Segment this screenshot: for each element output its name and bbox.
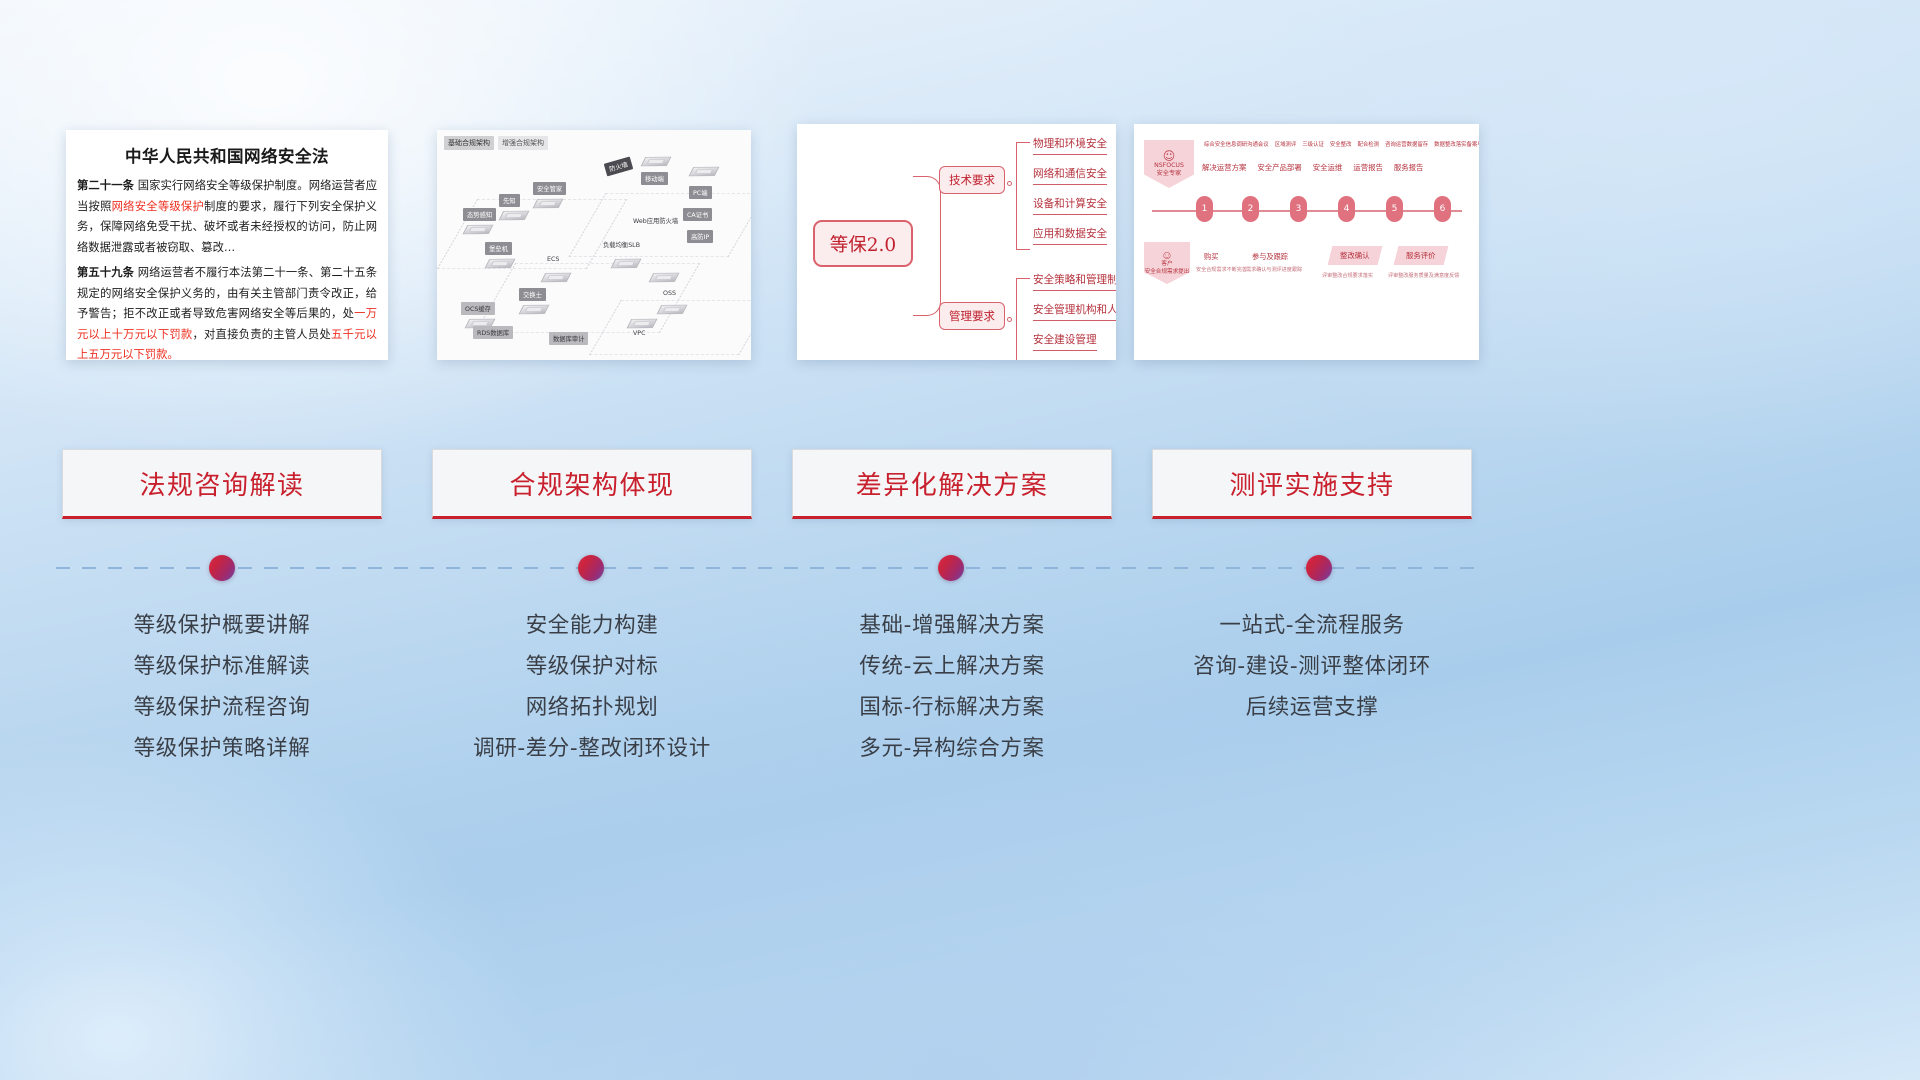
architecture-cube xyxy=(641,157,672,167)
nsfocus-stage: 安全产品部署 xyxy=(1257,162,1301,173)
architecture-cube xyxy=(657,305,688,315)
architecture-cube xyxy=(533,199,564,209)
architecture-node-ca-cert: CA证书 xyxy=(683,208,712,221)
nsfocus-step: 5 xyxy=(1386,196,1403,222)
nsfocus-brand: NSFOCUS xyxy=(1154,162,1184,170)
mindmap-branch-management: 管理要求 xyxy=(939,302,1005,330)
list-item: 等级保护策略详解 xyxy=(57,728,387,769)
nsfocus-step: 4 xyxy=(1338,196,1355,222)
architecture-node-mobile: 移动端 xyxy=(641,172,668,185)
nsfocus-top-label: 咨询运营数据留存 xyxy=(1385,140,1428,148)
card-cybersecurity-law: 中华人民共和国网络安全法 第二十一条 国家实行网络安全等级保护制度。网络运营者应… xyxy=(66,130,388,360)
nsfocus-bottom-tag: 购买 xyxy=(1204,252,1218,262)
list-item: 传统-云上解决方案 xyxy=(787,646,1117,687)
nsfocus-expert-badge: ☺ NSFOCUS 安全专家 xyxy=(1144,140,1194,188)
architecture-node-pc: PC端 xyxy=(689,186,712,199)
list-item: 咨询-建设-测评整体闭环 xyxy=(1147,646,1477,687)
nsfocus-top-label: 三级认证 xyxy=(1302,140,1324,148)
architecture-node-rds: RDS数据库 xyxy=(473,326,513,339)
mindmap-leaf: 安全建设管理 xyxy=(1033,332,1097,351)
nsfocus-deliverable-sub: 评审整改合规要求落实 xyxy=(1322,272,1373,279)
nsfocus-top-label: 数据整改落实备案与业务流程规范 xyxy=(1434,140,1479,148)
mindmap-node-dot xyxy=(1007,181,1012,186)
mindmap-connector xyxy=(913,244,941,316)
list-item: 调研-差分-整改闭环设计 xyxy=(427,728,757,769)
nsfocus-brand-sub: 安全专家 xyxy=(1157,170,1182,178)
architecture-node-slb: 负载均衡SLB xyxy=(603,240,640,249)
timeline-dot-3[interactable] xyxy=(938,555,964,581)
architecture-node-security-butler: 安全管家 xyxy=(533,182,566,195)
architecture-tabs: 基础合规架构 增强合规架构 xyxy=(444,136,548,150)
architecture-cube xyxy=(519,305,550,315)
list-item: 等级保护对标 xyxy=(427,646,757,687)
mindmap: 等保2.0 技术要求 管理要求 物理和环境安全 网络和通信安全 设备和计算安全 … xyxy=(797,124,1116,360)
mindmap-node-dot xyxy=(1007,317,1012,322)
nsfocus-step: 2 xyxy=(1242,196,1259,222)
person-icon: ☺ xyxy=(1161,250,1173,261)
nsfocus-step: 3 xyxy=(1290,196,1307,222)
nsfocus-deliverable-label: 整改确认 xyxy=(1340,250,1370,261)
mindmap-leaf: 安全策略和管理制度 xyxy=(1033,272,1116,291)
nsfocus-stage: 运营报告 xyxy=(1353,162,1383,173)
architecture-node-firewall: 防火墙 xyxy=(604,157,633,177)
nsfocus-bottom-tag: 参与及跟踪 xyxy=(1252,252,1288,262)
architecture-node-ecs: ECS xyxy=(547,256,559,263)
law-article-text-cont: ，对直接负责的主管人员处 xyxy=(192,328,331,341)
nsfocus-customer-sub: 安全合规需求提出 xyxy=(1145,269,1190,277)
section-title-2[interactable]: 合规架构体现 xyxy=(432,449,752,519)
nsfocus-stage: 安全运维 xyxy=(1313,162,1343,173)
nsfocus-step: 6 xyxy=(1434,196,1451,222)
architecture-node-xianzhi: 先知 xyxy=(499,194,520,207)
mindmap-spine xyxy=(1016,184,1030,250)
architecture-node-waf: Web应用防火墙 xyxy=(633,216,678,225)
nsfocus-stage-row: 解决运营方案 安全产品部署 安全运维 运营报告 服务报告 xyxy=(1202,162,1423,173)
list-item: 国标-行标解决方案 xyxy=(787,687,1117,728)
column-2-items: 安全能力构建 等级保护对标 网络拓扑规划 调研-差分-整改闭环设计 xyxy=(427,605,757,769)
mindmap-branch-technical: 技术要求 xyxy=(939,166,1005,194)
mindmap-spine xyxy=(1016,320,1030,360)
nsfocus-stage: 解决运营方案 xyxy=(1202,162,1246,173)
architecture-cube xyxy=(485,259,516,269)
architecture-node-vpc: VPC xyxy=(633,330,646,337)
nsfocus-diagram: ☺ NSFOCUS 安全专家 综合安全信息调研沟通会议 区域测评 三级认证 安全… xyxy=(1134,124,1479,360)
column-1-items: 等级保护概要讲解 等级保护标准解读 等级保护流程咨询 等级保护策略详解 xyxy=(57,605,387,769)
timeline-dot-1[interactable] xyxy=(209,555,235,581)
nsfocus-stage: 服务报告 xyxy=(1394,162,1424,173)
nsfocus-top-label: 综合安全信息调研沟通会议 xyxy=(1204,140,1269,148)
architecture-cube xyxy=(499,211,530,221)
law-article: 第二十一条 国家实行网络安全等级保护制度。网络运营者应当按照网络安全等级保护制度… xyxy=(77,176,377,258)
architecture-diagram: 基础合规架构 增强合规架构 防火墙 安全管家 先知 态势感知 堡垒机 ECS 交… xyxy=(437,130,751,360)
architecture-cube xyxy=(627,319,658,329)
section-title-1[interactable]: 法规咨询解读 xyxy=(62,449,382,519)
mindmap-leaf: 应用和数据安全 xyxy=(1033,226,1107,245)
law-article: 第五十九条 网络运营者不履行本法第二十一条、第二十五条规定的网络安全保护义务的，… xyxy=(77,263,377,360)
mindmap-root: 等保2.0 xyxy=(813,220,913,267)
list-item: 一站式-全流程服务 xyxy=(1147,605,1477,646)
list-item: 等级保护流程咨询 xyxy=(57,687,387,728)
section-title-4[interactable]: 测评实施支持 xyxy=(1152,449,1472,519)
timeline-dot-4[interactable] xyxy=(1306,555,1332,581)
list-item: 基础-增强解决方案 xyxy=(787,605,1117,646)
mindmap-connector xyxy=(913,176,941,244)
architecture-cube xyxy=(689,167,720,177)
column-3-items: 基础-增强解决方案 传统-云上解决方案 国标-行标解决方案 多元-异构综合方案 xyxy=(787,605,1117,769)
list-item: 网络拓扑规划 xyxy=(427,687,757,728)
architecture-node-situational-awareness: 态势感知 xyxy=(463,208,496,221)
nsfocus-bottom-tag-sub: 需求确认与测评进度跟踪 xyxy=(1246,266,1302,273)
list-item: 等级保护概要讲解 xyxy=(57,605,387,646)
card-dengbao-mindmap: 等保2.0 技术要求 管理要求 物理和环境安全 网络和通信安全 设备和计算安全 … xyxy=(797,124,1116,360)
nsfocus-top-labels: 综合安全信息调研沟通会议 区域测评 三级认证 安全整改 配合检测 咨询运营数据留… xyxy=(1204,140,1479,148)
card-nsfocus-timeline: ☺ NSFOCUS 安全专家 综合安全信息调研沟通会议 区域测评 三级认证 安全… xyxy=(1134,124,1479,360)
section-title-3[interactable]: 差异化解决方案 xyxy=(792,449,1112,519)
list-item: 安全能力构建 xyxy=(427,605,757,646)
timeline-dashed-line xyxy=(56,567,1482,569)
mindmap-leaf: 网络和通信安全 xyxy=(1033,166,1107,185)
list-item: 等级保护标准解读 xyxy=(57,646,387,687)
list-item: 多元-异构综合方案 xyxy=(787,728,1117,769)
nsfocus-deliverable-sub: 评审整改服务质量及满意度反馈 xyxy=(1388,272,1459,279)
nsfocus-deliverable: 整改确认 xyxy=(1328,246,1382,265)
architecture-tab-enhanced[interactable]: 增强合规架构 xyxy=(498,136,548,150)
architecture-cube xyxy=(541,273,572,283)
architecture-node-oss: OSS xyxy=(663,290,676,297)
nsfocus-top-label: 区域测评 xyxy=(1275,140,1297,148)
mindmap-leaf: 物理和环境安全 xyxy=(1033,136,1107,155)
architecture-cube xyxy=(463,225,494,235)
nsfocus-top-label: 配合检测 xyxy=(1357,140,1379,148)
architecture-node-bastion: 堡垒机 xyxy=(485,242,512,255)
architecture-node-anti-ddos: 高防IP xyxy=(687,230,713,243)
architecture-cube xyxy=(611,259,642,269)
architecture-tab-basic[interactable]: 基础合规架构 xyxy=(444,136,494,150)
cards-row: 中华人民共和国网络安全法 第二十一条 国家实行网络安全等级保护制度。网络运营者应… xyxy=(0,0,1920,440)
nsfocus-bottom-tag-sub: 安全合规需求不断完善 xyxy=(1196,266,1247,273)
list-item: 后续运营支撑 xyxy=(1147,687,1477,728)
architecture-node-switch: 交换士 xyxy=(519,288,546,301)
card-compliance-architecture: 基础合规架构 增强合规架构 防火墙 安全管家 先知 态势感知 堡垒机 ECS 交… xyxy=(437,130,751,360)
architecture-node-db-audit: 数据库审计 xyxy=(549,332,588,345)
nsfocus-deliverable-label: 服务评价 xyxy=(1406,250,1436,261)
law-card-body: 第二十一条 国家实行网络安全等级保护制度。网络运营者应当按照网络安全等级保护制度… xyxy=(66,176,388,360)
mindmap-leaf: 设备和计算安全 xyxy=(1033,196,1107,215)
nsfocus-customer-title: 客户 xyxy=(1161,261,1172,269)
architecture-cube xyxy=(649,273,680,283)
law-article-label: 第二十一条 xyxy=(77,179,134,192)
person-icon: ☺ xyxy=(1163,151,1176,162)
nsfocus-step: 1 xyxy=(1196,196,1213,222)
column-4-items: 一站式-全流程服务 咨询-建设-测评整体闭环 后续运营支撑 xyxy=(1147,605,1477,728)
architecture-node-ocs-cache: OCS缓存 xyxy=(461,302,495,315)
nsfocus-deliverable: 服务评价 xyxy=(1394,246,1448,265)
law-article-highlight: 网络安全等级保护 xyxy=(112,200,204,213)
nsfocus-top-label: 安全整改 xyxy=(1330,140,1352,148)
law-card-title: 中华人民共和国网络安全法 xyxy=(66,130,388,176)
nsfocus-customer-badge: ☺ 客户 安全合规需求提出 xyxy=(1144,242,1190,284)
timeline-dot-2[interactable] xyxy=(578,555,604,581)
law-article-label: 第五十九条 xyxy=(77,266,134,279)
mindmap-leaf: 安全管理机构和人员 xyxy=(1033,302,1116,321)
